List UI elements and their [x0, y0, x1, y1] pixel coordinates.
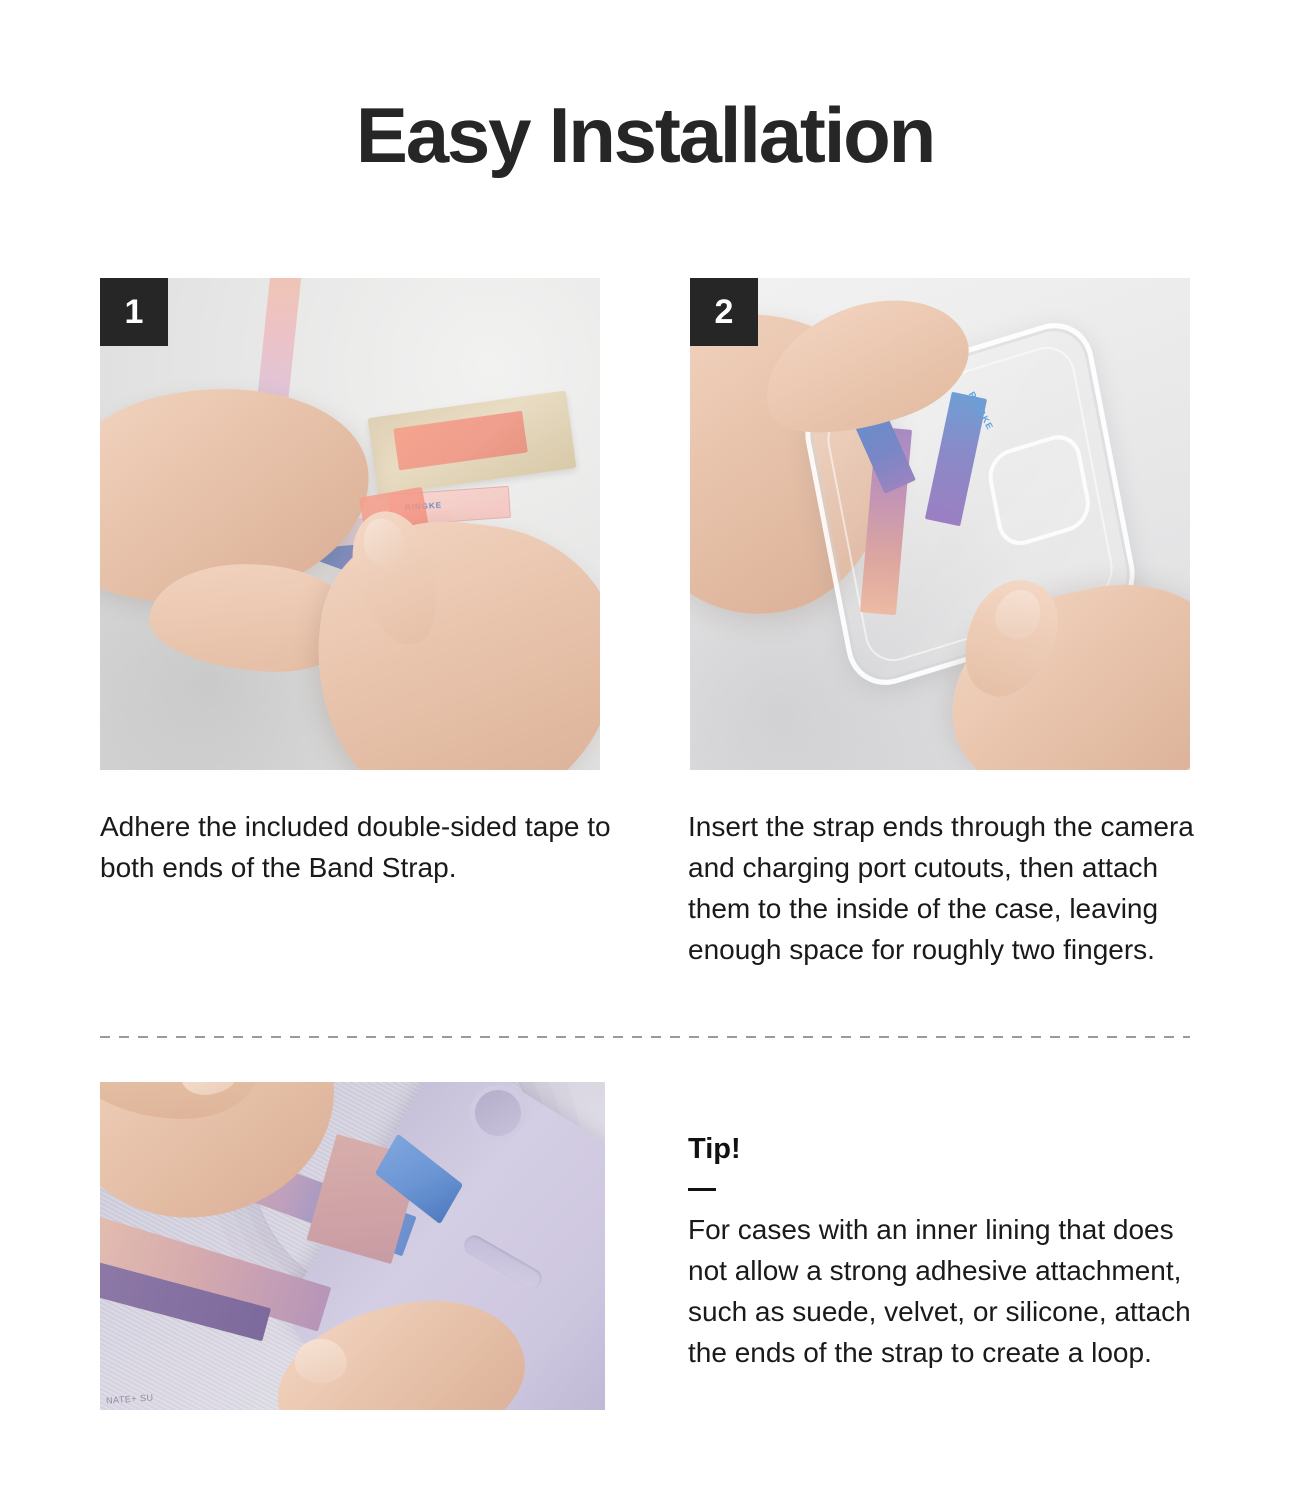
- step-1-photo: RINGKE 1: [100, 278, 600, 770]
- section-divider: [100, 1036, 1190, 1038]
- tip-block: Tip! For cases with an inner lining that…: [688, 1134, 1208, 1373]
- double-sided-tape: [393, 411, 528, 471]
- tip-divider-dash: [688, 1188, 716, 1191]
- step-2-photo: RINGKE 2: [690, 278, 1190, 770]
- tip-photo: NATE+ SU: [100, 1082, 605, 1410]
- fingernail: [176, 1082, 242, 1100]
- thumbnail: [358, 513, 410, 570]
- tip-body-text: For cases with an inner lining that does…: [688, 1209, 1208, 1373]
- tip-title: Tip!: [688, 1134, 1208, 1166]
- camera-cutout: [475, 1090, 521, 1136]
- step-1-caption: Adhere the included double-sided tape to…: [100, 806, 620, 888]
- fingernail: [294, 1338, 348, 1384]
- index-finger: [100, 1082, 266, 1127]
- step-badge-2: 2: [690, 278, 758, 346]
- step-badge-1: 1: [100, 278, 168, 346]
- thumbnail: [988, 583, 1049, 647]
- step-2-caption: Insert the strap ends through the camera…: [688, 806, 1208, 970]
- page-title: Easy Installation: [0, 96, 1290, 174]
